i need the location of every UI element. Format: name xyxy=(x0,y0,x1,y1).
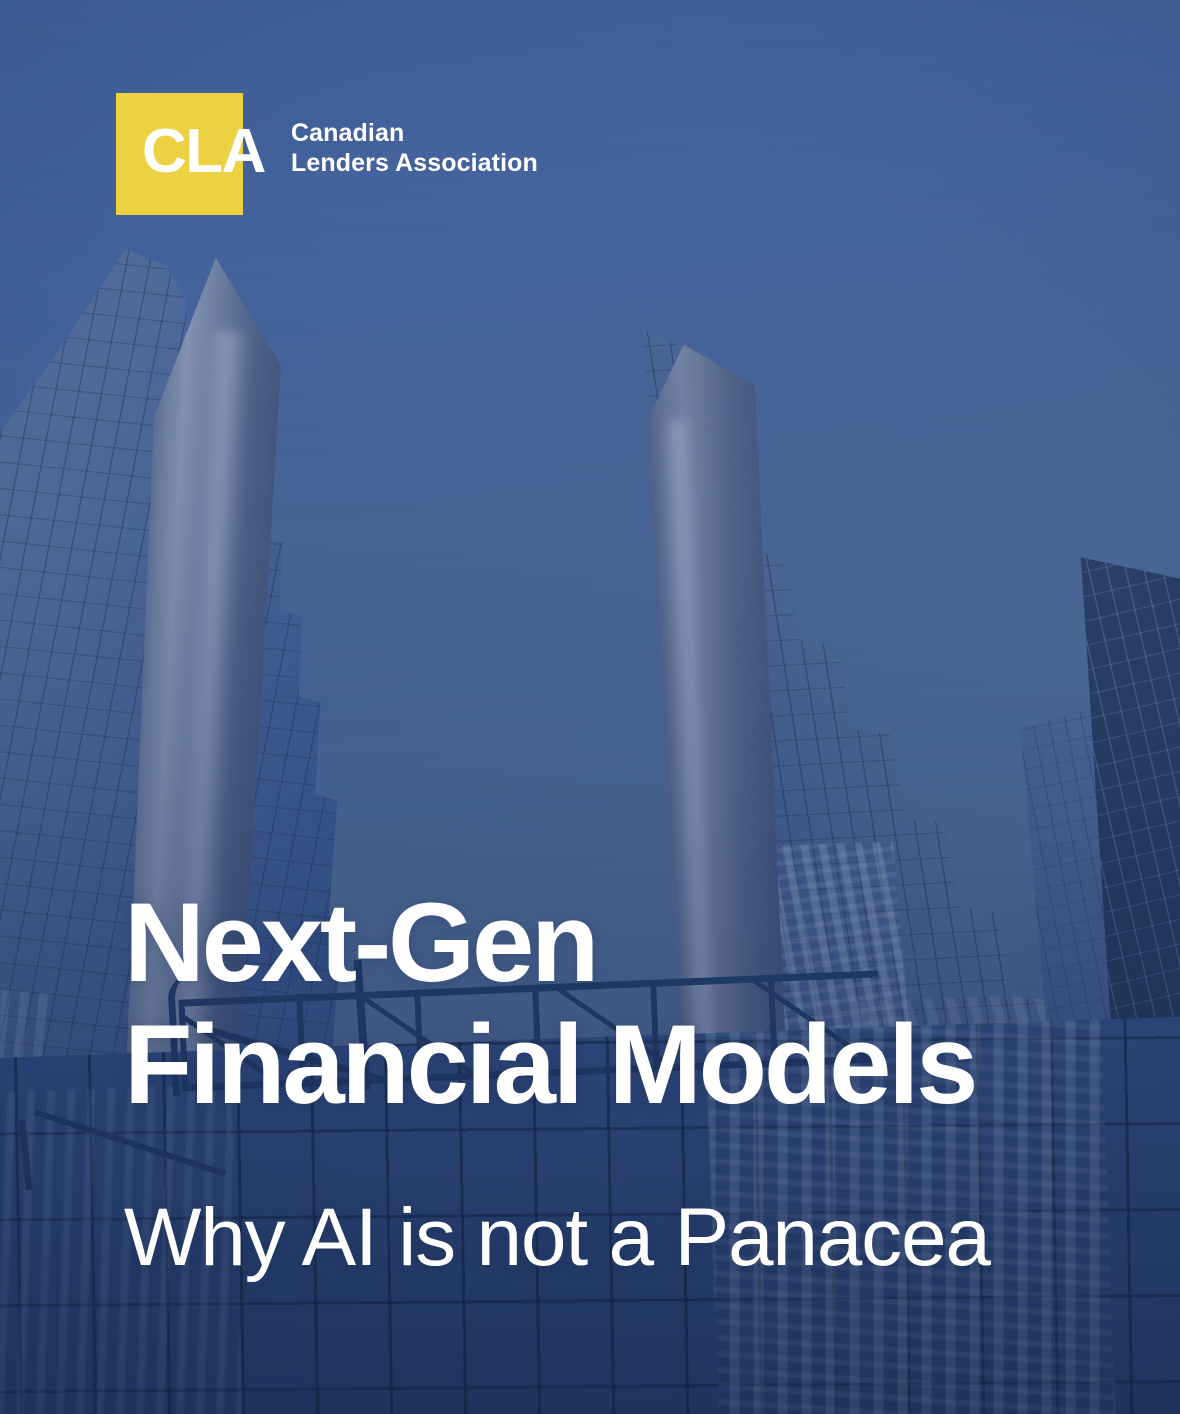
cover-subtitle: Why AI is not a Panacea xyxy=(124,1192,1124,1284)
cover-title-line-1: Next-Gen xyxy=(124,882,1124,1004)
cover-title-block: Next-Gen Financial Models Why AI is not … xyxy=(124,882,1124,1284)
organization-name: CanadianLenders Association xyxy=(291,118,538,178)
organization-name-line2: Lenders Association xyxy=(291,149,538,177)
cover-title-line-2: Financial Models xyxy=(124,1004,1124,1126)
cla-logo-lockup: CLA CanadianLenders Association xyxy=(116,93,538,215)
cla-monogram: CLA xyxy=(142,121,265,183)
report-cover-page: CLA CanadianLenders Association Next-Gen… xyxy=(0,0,1180,1414)
organization-name-line1: Canadian xyxy=(291,119,404,147)
